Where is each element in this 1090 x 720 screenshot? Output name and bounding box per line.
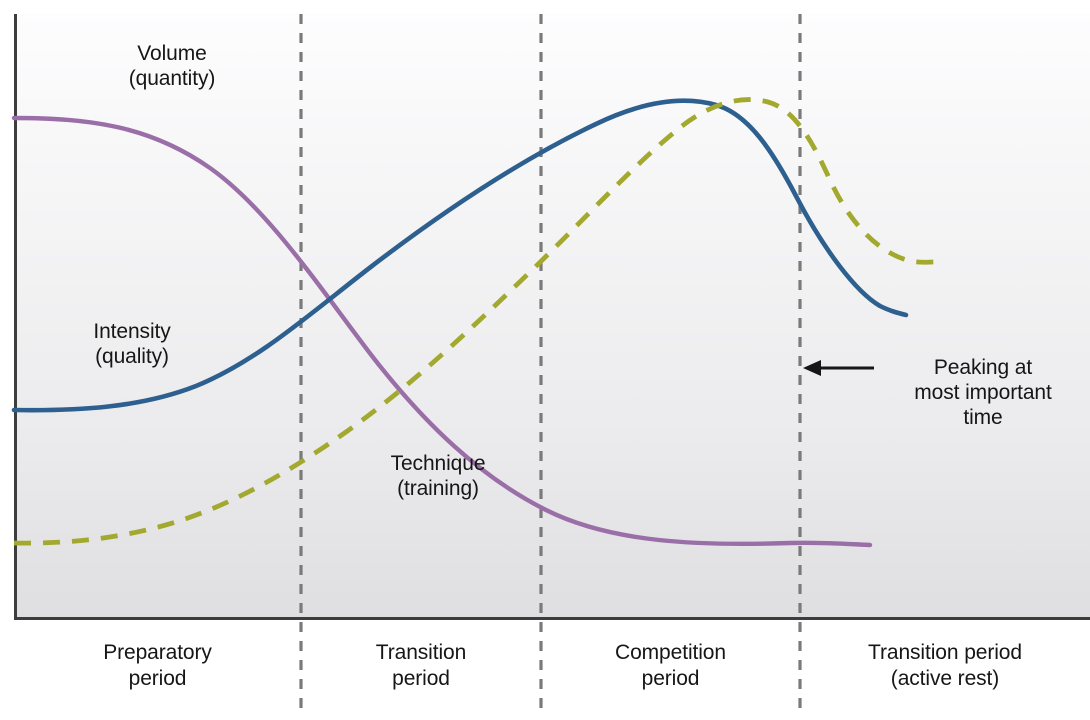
period-label-competition: Competition period [541, 640, 800, 693]
period-label-preparatory: Preparatory period [14, 640, 301, 693]
curve-label-intensity: Intensity (quality) [52, 320, 212, 370]
training-periodization-chart: Volume (quantity) Intensity (quality) Te… [0, 0, 1090, 720]
period-label-transition: Transition period [301, 640, 541, 693]
curve-label-technique: Technique (training) [348, 452, 528, 502]
period-label-transition-active-rest: Transition period (active rest) [800, 640, 1090, 693]
annotation-peaking-label: Peaking at most important time [880, 355, 1086, 431]
curve-label-volume: Volume (quantity) [92, 42, 252, 92]
plot-area [14, 14, 1090, 620]
